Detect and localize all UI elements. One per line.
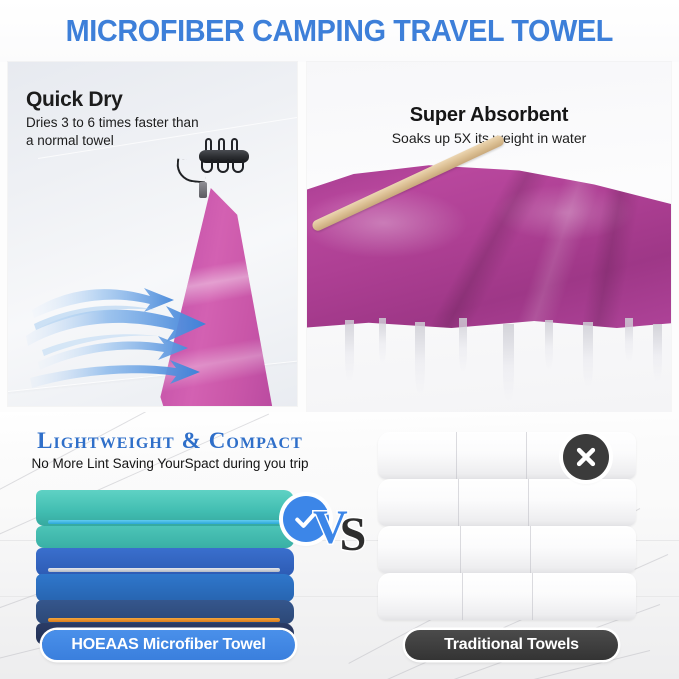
badge-microfiber-towel: HOEAAS Microfiber Towel — [42, 630, 295, 660]
panel-quick-dry: Quick Dry Dries 3 to 6 times faster than… — [8, 62, 297, 406]
badge-traditional-towels: Traditional Towels — [405, 630, 618, 660]
quick-dry-heading: Quick Dry — [26, 88, 123, 112]
water-drip-icon — [415, 322, 425, 394]
water-drip-icon — [625, 318, 633, 362]
page-title: MICROFIBER CAMPING TRAVEL TOWEL — [66, 13, 613, 49]
versus-s: S — [340, 511, 365, 559]
water-drip-icon — [459, 318, 467, 373]
water-drip-icon — [653, 324, 662, 382]
infographic-page: MICROFIBER CAMPING TRAVEL TOWEL Quick Dr… — [0, 0, 679, 679]
hook-rack-icon — [191, 138, 251, 172]
white-towel-layer — [378, 479, 636, 526]
water-drip-icon — [583, 322, 593, 388]
stack-trim-silver — [48, 568, 280, 572]
towel-clip-icon — [199, 182, 207, 198]
white-towel-layer — [378, 526, 636, 573]
water-drip-icon — [379, 318, 386, 364]
water-drip-icon — [345, 320, 354, 382]
airflow-arrows-icon — [24, 270, 224, 392]
lightweight-subtext: No More Lint Saving YourSpact during you… — [0, 456, 340, 471]
wet-towel-folds — [307, 160, 671, 335]
panel-super-absorbent: Super Absorbent Soaks up 5X its weight i… — [307, 62, 671, 412]
versus-label: VS — [313, 504, 370, 552]
super-absorbent-heading: Super Absorbent — [307, 104, 671, 127]
stack-layer-teal-towel-lower — [36, 526, 294, 548]
close-icon — [563, 434, 609, 480]
water-drip-icon — [545, 320, 553, 370]
water-drip-icon — [503, 324, 514, 402]
microfiber-towel-stack — [36, 490, 298, 633]
white-towel-layer — [378, 573, 636, 620]
stack-trim-orange — [48, 618, 280, 622]
quick-dry-subtext: Dries 3 to 6 times faster than a normal … — [26, 114, 201, 150]
header-banner: MICROFIBER CAMPING TRAVEL TOWEL — [0, 0, 679, 62]
stack-trim-cyan — [48, 520, 280, 524]
stack-layer-steel-blue-towel — [36, 574, 294, 602]
lightweight-heading: Lightweight & Compact — [0, 428, 340, 454]
